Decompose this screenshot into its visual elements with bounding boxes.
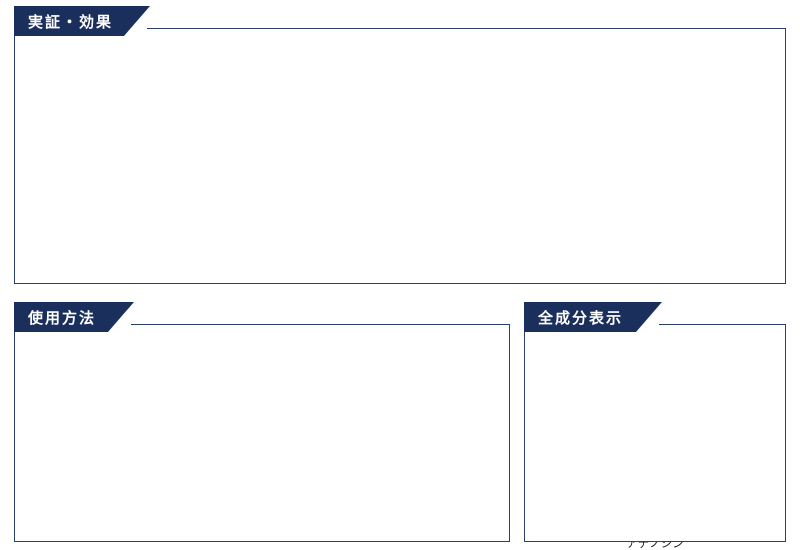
panel-results-body <box>14 28 786 284</box>
panel-results: 実証・効果 小ジワへの効果 Before After <box>14 6 786 284</box>
panel-usage-body <box>14 324 510 542</box>
panel-usage: 使用方法 1 肌を整える <box>14 302 510 542</box>
panel-ingredients-body <box>524 324 786 542</box>
panel-ingredients: 全成分表示 肌にハリと潤いを与える成分 ヒアルロン酸Na 加水分解コラーゲン エ… <box>524 302 786 542</box>
infographic-page: 実証・効果 小ジワへの効果 Before After <box>0 0 800 550</box>
